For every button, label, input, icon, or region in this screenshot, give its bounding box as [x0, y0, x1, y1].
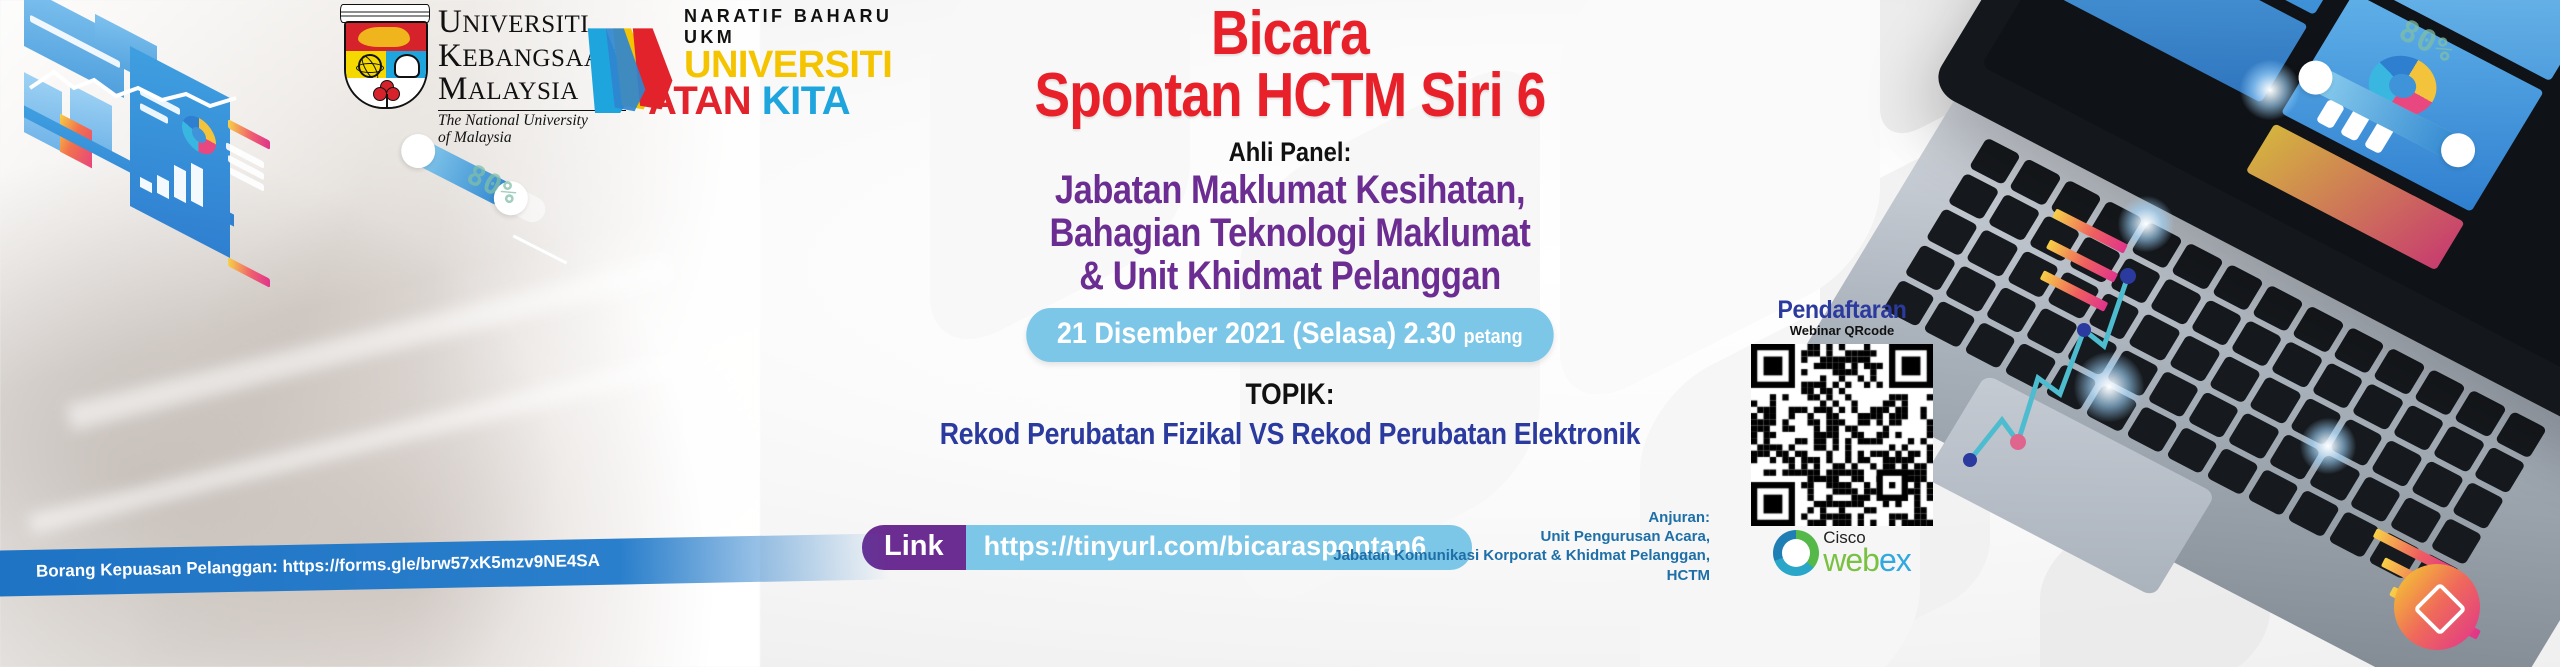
- webex-ring-icon: [1773, 530, 1819, 576]
- webex-wordmark: webex: [1823, 546, 1911, 575]
- line-chart-squiggle: [20, 36, 320, 156]
- registration-block: Pendaftaran Webinar QRcode Cisco webex: [1722, 296, 1962, 576]
- panel-line-2: Bahagian Teknologi Maklumat: [920, 213, 1660, 254]
- topic-label: TOPIK:: [912, 378, 1669, 412]
- ukm-subtitle-2: of Malaysia: [438, 130, 626, 147]
- title-line-2: Spontan HCTM Siri 6: [920, 66, 1660, 126]
- organiser-line-3: Jabatan Komunikasi Korporat & Khidmat Pe…: [1290, 546, 1710, 584]
- ukm-crest-icon: [338, 4, 430, 108]
- registration-title: Pendaftaran: [1732, 296, 1953, 325]
- title-line-1: Bicara: [920, 4, 1660, 64]
- panel-line-3: & Unit Khidmat Pelanggan: [920, 256, 1660, 297]
- organiser-line-2: Unit Pengurusan Acara,: [1290, 527, 1710, 546]
- topic-text: Rekod Perubatan Fizikal VS Rekod Perubat…: [920, 416, 1660, 452]
- organiser-line-1: Anjuran:: [1290, 508, 1710, 527]
- panel-line-1: Jabatan Maklumat Kesihatan,: [920, 170, 1660, 211]
- event-banner: 80% UUniversitiNIVERSITI K: [0, 0, 2560, 667]
- send-badge-icon: [2394, 564, 2480, 650]
- event-date-badge: 21 Disember 2021 (Selasa) 2.30 petang: [1026, 308, 1553, 362]
- cisco-webex-logo: Cisco webex: [1722, 530, 1962, 576]
- ukm-logo: UUniversitiNIVERSITI KEBANGSAAN MALAYSIA…: [338, 4, 430, 108]
- organiser-block: Anjuran: Unit Pengurusan Acara, Jabatan …: [1290, 508, 1710, 585]
- event-time-suffix: petang: [1464, 326, 1523, 348]
- naratif-v-mark-icon: [586, 22, 694, 114]
- panel-heading: Ahli Panel:: [912, 137, 1669, 168]
- registration-subtitle: Webinar QRcode: [1722, 323, 1962, 338]
- main-text-block: Bicara Spontan HCTM Siri 6 Ahli Panel: J…: [860, 4, 1720, 452]
- webinar-qr-code[interactable]: [1751, 344, 1933, 526]
- feedback-form-text: Borang Kepuasan Pelanggan: https://forms…: [36, 551, 600, 582]
- event-date-text: 21 Disember 2021 (Selasa) 2.30: [1057, 317, 1456, 350]
